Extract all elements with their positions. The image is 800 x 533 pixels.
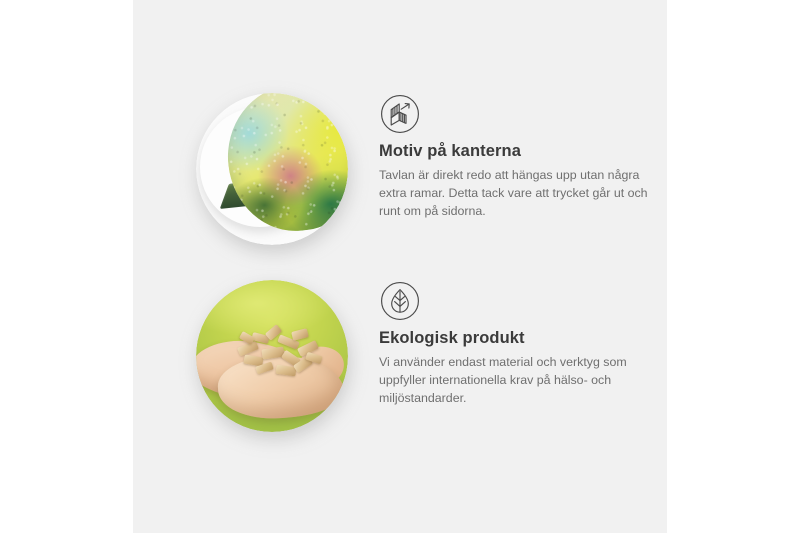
- feature-copy-motiv-pa-kanterna: Motiv på kanterna Tavlan är direkt redo …: [379, 93, 661, 221]
- feature-copy-ekologisk-produkt: Ekologisk produkt Vi använder endast mat…: [379, 280, 661, 408]
- feature-title: Ekologisk produkt: [379, 329, 661, 348]
- leaf-icon: [379, 280, 421, 322]
- feature-item-ekologisk-produkt: Ekologisk produkt Vi använder endast mat…: [133, 280, 667, 440]
- feature-item-motiv-pa-kanterna: Motiv på kanterna Tavlan är direkt redo …: [133, 93, 667, 253]
- canvas-wrapped-edge-icon: [379, 93, 421, 135]
- canvas-print-edge-photo: [196, 93, 348, 245]
- feature-title: Motiv på kanterna: [379, 142, 661, 161]
- feature-list: Motiv på kanterna Tavlan är direkt redo …: [133, 0, 667, 533]
- feature-description: Vi använder endast material och verktyg …: [379, 353, 649, 408]
- feature-photo-hands-wood-chips: [196, 280, 348, 432]
- hands-holding-wood-chips-photo: [196, 280, 348, 432]
- feature-photo-canvas-print-edge: [196, 93, 348, 245]
- feature-description: Tavlan är direkt redo att hängas upp uta…: [379, 166, 649, 221]
- wood-chip-pile: [234, 328, 326, 378]
- product-info-graphic: Motiv på kanterna Tavlan är direkt redo …: [0, 0, 800, 533]
